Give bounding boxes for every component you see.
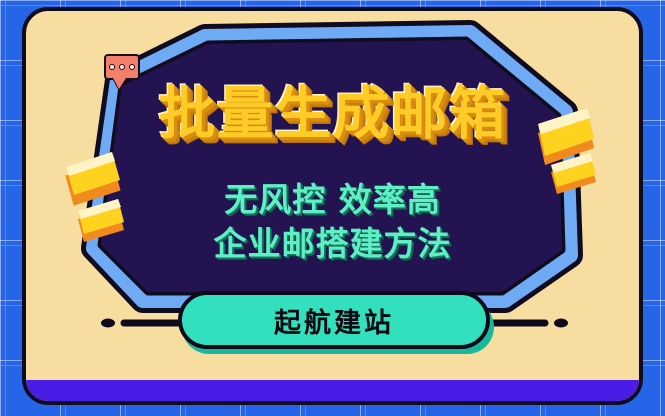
chat-bubble-dot-1	[109, 64, 115, 70]
poster-headline: 批量生成邮箱	[0, 86, 665, 143]
poster-subline-primary: 无风控 效率高	[0, 183, 665, 216]
card-bottom-accent-strip	[26, 380, 639, 401]
chat-bubble-dot-3	[129, 64, 135, 70]
cta-button[interactable]: 起航建站	[178, 291, 490, 349]
poster-subline-secondary: 企业邮搭建方法	[0, 227, 665, 260]
chat-bubble-icon	[104, 54, 140, 80]
chat-bubble-dot-2	[119, 64, 125, 70]
poster-canvas: 批量生成邮箱 无风控 效率高 企业邮搭建方法 起航建站	[0, 0, 665, 416]
